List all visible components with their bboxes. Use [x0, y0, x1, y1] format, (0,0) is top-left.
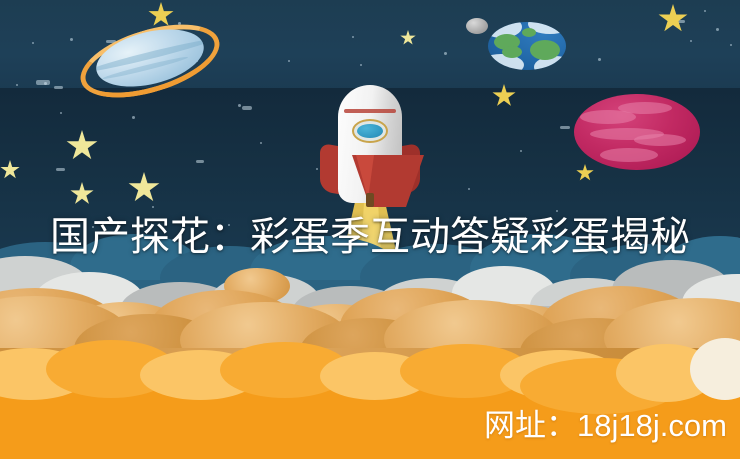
- planet-streak: [634, 134, 686, 146]
- star-dash-icon: [54, 86, 63, 89]
- rocket-seam: [344, 109, 396, 113]
- star-dot-icon: [360, 64, 362, 66]
- star-dash-icon: [56, 168, 65, 171]
- star-dot-icon: [16, 84, 18, 86]
- star-dot-icon: [598, 58, 601, 61]
- star-dot-icon: [152, 206, 154, 208]
- star-dot-icon: [716, 28, 719, 31]
- rocket-nozzle: [366, 193, 374, 207]
- star-dot-icon: [32, 42, 34, 44]
- earth-landmass: [522, 28, 536, 37]
- star-dash-icon: [242, 106, 252, 110]
- planet-streak: [618, 102, 672, 114]
- star-dot-icon: [690, 40, 692, 42]
- star-dot-icon: [352, 36, 354, 38]
- star-dash-icon: [560, 126, 570, 129]
- site-watermark: 网址：18j18j.com: [484, 406, 727, 446]
- star-dot-icon: [70, 38, 73, 41]
- rocket-window-glass: [357, 124, 383, 138]
- star-dot-icon: [60, 112, 62, 114]
- earth-landmass: [530, 40, 560, 60]
- star-dot-icon: [556, 210, 558, 212]
- star-dot-icon: [132, 116, 135, 119]
- star-dash-icon: [36, 80, 50, 85]
- star-dot-icon: [260, 142, 262, 144]
- moon-icon: [466, 18, 488, 34]
- star-dash-icon: [196, 160, 204, 163]
- rocket-icon: [320, 85, 420, 215]
- star-dot-icon: [468, 188, 470, 190]
- star-dot-icon: [444, 52, 447, 55]
- star-dot-icon: [316, 168, 318, 170]
- page-title: 国产探花：彩蛋季互动答疑彩蛋揭秘: [50, 214, 696, 260]
- star-dot-icon: [520, 150, 522, 152]
- crimson-planet-icon: [574, 94, 700, 170]
- star-dot-icon: [730, 44, 732, 46]
- earth-landmass: [502, 46, 522, 58]
- star-dot-icon: [288, 60, 290, 62]
- planet-streak: [600, 148, 658, 162]
- star-dot-icon: [704, 10, 706, 12]
- earth-planet-icon: [488, 22, 566, 70]
- star-dot-icon: [238, 104, 241, 107]
- poster-canvas: 国产探花：彩蛋季互动答疑彩蛋揭秘 网址：18j18j.com: [0, 0, 740, 459]
